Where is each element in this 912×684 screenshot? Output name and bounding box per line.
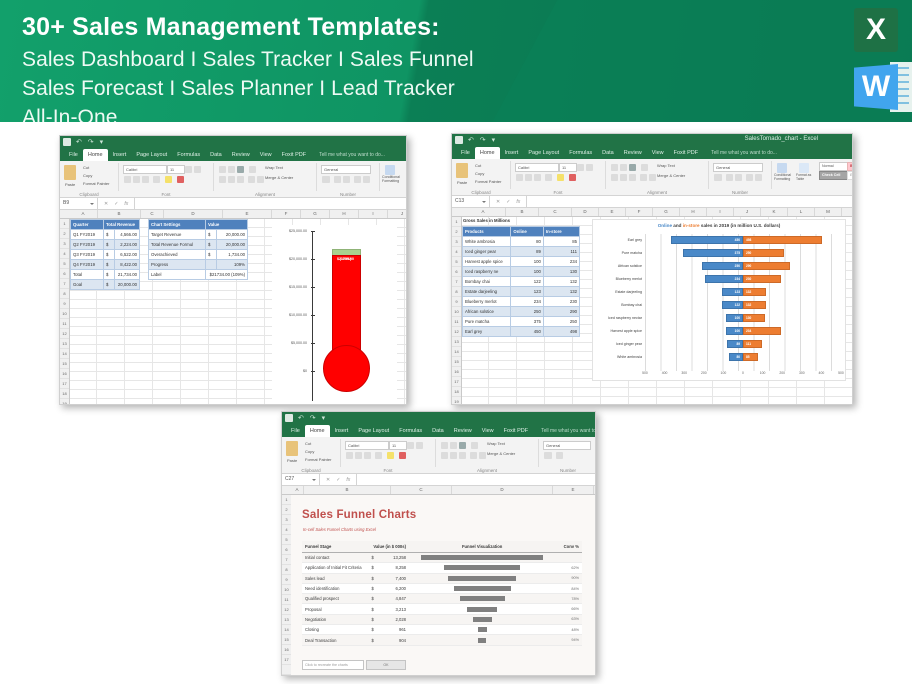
ribbon-group-clipboard[interactable]: Paste Cut Copy Format Painter Clipboard bbox=[63, 162, 115, 196]
row-17[interactable]: 17 bbox=[282, 655, 291, 665]
ribbon[interactable]: Paste Cut Copy Format Painter Clipboard … bbox=[282, 437, 595, 474]
column-headers[interactable]: A B C D E F G H I J bbox=[60, 210, 406, 219]
ribbon-group-alignment[interactable]: Wrap Text Merge & Center Alignment bbox=[217, 162, 313, 196]
row-7[interactable]: 7 bbox=[60, 279, 69, 289]
save-icon[interactable] bbox=[285, 414, 293, 422]
col-N[interactable]: N bbox=[842, 208, 853, 216]
bar-instore[interactable]: 290 bbox=[743, 262, 790, 270]
increase-decimal-icon[interactable] bbox=[354, 176, 361, 183]
recreate-charts-input[interactable]: Click to recreate the charts bbox=[302, 660, 364, 670]
tab-file[interactable]: File bbox=[286, 425, 305, 437]
tab-data[interactable]: Data bbox=[427, 425, 449, 437]
table-row[interactable]: Total Revenue Formul $ 20,000.00 bbox=[149, 240, 248, 250]
cell-stage[interactable]: Negotiation bbox=[302, 614, 368, 624]
gross-sales-table[interactable]: Products Online In-store White ambrosia … bbox=[462, 226, 580, 337]
align-middle-icon[interactable] bbox=[228, 166, 235, 173]
row-1[interactable]: 1 bbox=[60, 219, 69, 229]
cell-product[interactable]: Earl grey bbox=[463, 327, 511, 337]
bar-online[interactable]: 89 bbox=[727, 340, 743, 348]
insert-function-icon[interactable]: fx bbox=[346, 477, 350, 483]
row-7[interactable]: 7 bbox=[282, 555, 291, 565]
align-center-icon[interactable] bbox=[228, 176, 235, 183]
orientation-icon[interactable] bbox=[249, 166, 256, 173]
font-name-input[interactable]: Calibri bbox=[345, 441, 389, 450]
percent-icon[interactable] bbox=[556, 452, 563, 459]
font-color-icon[interactable] bbox=[177, 176, 184, 183]
ribbon-tabs[interactable]: File Home Insert Page Layout Formulas Da… bbox=[282, 425, 595, 437]
bold-icon[interactable] bbox=[516, 174, 523, 181]
col-D[interactable]: D bbox=[164, 210, 223, 218]
worksheet-grid[interactable]: 1 2 3 4 5 6 7 8 9 10 11 12 13 14 15 16 1… bbox=[452, 217, 852, 405]
format-as-table-icon[interactable] bbox=[799, 163, 809, 173]
cell-instore[interactable]: 250 bbox=[543, 317, 579, 327]
copy-label[interactable]: Copy bbox=[83, 173, 92, 178]
column-headers[interactable]: A B C D E bbox=[282, 486, 595, 495]
italic-icon[interactable] bbox=[525, 174, 532, 181]
col-L[interactable]: L bbox=[788, 208, 815, 216]
col-I[interactable]: I bbox=[707, 208, 734, 216]
style-bad[interactable]: Bad bbox=[847, 162, 853, 171]
orientation-icon[interactable] bbox=[471, 442, 478, 449]
accept-formula-icon[interactable]: ✓ bbox=[336, 477, 340, 483]
row-15[interactable]: 15 bbox=[60, 359, 69, 369]
bar-instore[interactable]: 498 bbox=[743, 236, 822, 244]
insert-function-icon[interactable]: fx bbox=[516, 199, 520, 205]
row-12[interactable]: 12 bbox=[452, 327, 461, 337]
col-A[interactable]: A bbox=[69, 210, 98, 218]
tab-formulas[interactable]: Formulas bbox=[172, 149, 205, 161]
bar-online[interactable]: 234 bbox=[705, 275, 743, 283]
cell-value[interactable]: $21734.00 (109%) bbox=[206, 270, 248, 280]
tab-formulas[interactable]: Formulas bbox=[564, 147, 597, 159]
row-5[interactable]: 5 bbox=[282, 535, 291, 545]
col-D[interactable]: D bbox=[452, 486, 553, 494]
align-middle-icon[interactable] bbox=[450, 442, 457, 449]
cell-setting[interactable]: Overachieved bbox=[149, 250, 206, 260]
cut-label[interactable]: Cut bbox=[305, 441, 311, 446]
tab-insert[interactable]: Insert bbox=[500, 147, 524, 159]
ribbon-group-font[interactable]: Calibri 11 Font bbox=[514, 160, 602, 194]
tab-page-layout[interactable]: Page Layout bbox=[353, 425, 394, 437]
funnel-row[interactable]: Proposal $3,213 66% bbox=[302, 604, 582, 614]
conditional-formatting-icon[interactable] bbox=[385, 165, 395, 175]
recreate-charts-control[interactable]: Click to recreate the charts OK bbox=[302, 660, 406, 670]
ribbon-group-alignment[interactable]: Wrap Text Merge & Center Alignment bbox=[439, 438, 535, 472]
ribbon-group-number[interactable]: General Number bbox=[712, 160, 768, 194]
align-bottom-icon[interactable] bbox=[237, 166, 244, 173]
col-K[interactable]: K bbox=[761, 208, 788, 216]
cell-value[interactable]: 20,000.00 bbox=[217, 240, 248, 250]
cell-product[interactable]: White ambrosia bbox=[463, 237, 511, 247]
fill-color-icon[interactable] bbox=[557, 174, 564, 181]
tab-view[interactable]: View bbox=[647, 147, 669, 159]
row-10[interactable]: 10 bbox=[452, 307, 461, 317]
row-14[interactable]: 14 bbox=[60, 349, 69, 359]
cell-instore[interactable]: 234 bbox=[543, 257, 579, 267]
chart-bar-row[interactable]: Iced ginger pear 89 111 bbox=[645, 340, 841, 348]
col-B[interactable]: B bbox=[506, 208, 539, 216]
number-format-select[interactable]: General bbox=[321, 165, 371, 174]
align-center-icon[interactable] bbox=[620, 174, 627, 181]
align-bottom-icon[interactable] bbox=[629, 164, 636, 171]
align-left-icon[interactable] bbox=[611, 174, 618, 181]
chart-bar-row[interactable]: Iced raspberry nectar 100 130 bbox=[645, 314, 841, 322]
chart-bar-row[interactable]: Pure matcha 375 250 bbox=[645, 249, 841, 257]
cell-quarter[interactable]: Goal bbox=[71, 280, 104, 290]
cut-label[interactable]: Cut bbox=[475, 163, 481, 168]
row-10[interactable]: 10 bbox=[282, 585, 291, 595]
funnel-row[interactable]: Qualified prospect $4,847 78% bbox=[302, 594, 582, 604]
table-row[interactable]: Iced raspberry ne 100 130 bbox=[463, 267, 580, 277]
cut-label[interactable]: Cut bbox=[83, 165, 89, 170]
cell-instore[interactable]: 111 bbox=[543, 247, 579, 257]
format-painter-label[interactable]: Format Painter bbox=[475, 179, 501, 184]
row-17[interactable]: 17 bbox=[60, 379, 69, 389]
font-size-input[interactable]: 11 bbox=[559, 163, 577, 172]
cell-value[interactable]: 21,734.00 bbox=[115, 270, 140, 280]
cell-setting[interactable]: Progress bbox=[149, 260, 206, 270]
formula-bar[interactable]: B9 ✕ ✓ fx bbox=[60, 198, 406, 210]
cell-instore[interactable]: 85 bbox=[543, 237, 579, 247]
align-left-icon[interactable] bbox=[441, 452, 448, 459]
ribbon-tabs[interactable]: File Home Insert Page Layout Formulas Da… bbox=[60, 149, 406, 161]
tab-foxit-pdf[interactable]: Foxit PDF bbox=[277, 149, 311, 161]
align-right-icon[interactable] bbox=[459, 452, 466, 459]
formula-bar[interactable]: C13 ✕ ✓ fx bbox=[452, 196, 852, 208]
table-row[interactable]: Bombay chai 122 132 bbox=[463, 277, 580, 287]
cell-online[interactable]: 100 bbox=[511, 267, 544, 277]
cell-online[interactable]: 250 bbox=[511, 307, 544, 317]
paste-label[interactable]: Paste bbox=[287, 458, 297, 463]
align-middle-icon[interactable] bbox=[620, 164, 627, 171]
decrease-font-icon[interactable] bbox=[416, 442, 423, 449]
tab-review[interactable]: Review bbox=[619, 147, 647, 159]
col-E[interactable]: E bbox=[599, 208, 626, 216]
cell-stage[interactable]: Need identification bbox=[302, 583, 368, 593]
ribbon[interactable]: Paste Cut Copy Format Painter Clipboard … bbox=[60, 161, 406, 198]
row-6[interactable]: 6 bbox=[452, 267, 461, 277]
cell-value[interactable]: 2,224.00 bbox=[115, 240, 140, 250]
formula-buttons[interactable]: ✕ ✓ fx bbox=[320, 474, 357, 485]
wrap-text-label[interactable]: Wrap Text bbox=[487, 441, 505, 446]
cell-value[interactable]: $3,213 bbox=[368, 604, 409, 614]
copy-label[interactable]: Copy bbox=[475, 171, 484, 176]
chart-bar-row[interactable]: African solstice 250 290 bbox=[645, 262, 841, 270]
cell-product[interactable]: Pure matcha bbox=[463, 317, 511, 327]
row-1[interactable]: 1 bbox=[452, 217, 461, 227]
row-13[interactable]: 13 bbox=[60, 339, 69, 349]
col-I[interactable]: I bbox=[359, 210, 388, 218]
row-2[interactable]: 2 bbox=[452, 227, 461, 237]
tab-data[interactable]: Data bbox=[597, 147, 619, 159]
cell-instore[interactable]: 130 bbox=[543, 267, 579, 277]
conditional-formatting-label[interactable]: Conditional Formatting bbox=[382, 176, 404, 184]
funnel-row[interactable]: Initial contact $13,258 bbox=[302, 553, 582, 563]
ribbon-group-clipboard[interactable]: Paste Cut Copy Format Painter Clipboard bbox=[455, 160, 507, 194]
row-16[interactable]: 16 bbox=[282, 645, 291, 655]
col-E[interactable]: E bbox=[223, 210, 272, 218]
ribbon-group-font[interactable]: Calibri 11 Font bbox=[344, 438, 432, 472]
bar-instore[interactable]: 111 bbox=[743, 340, 762, 348]
tell-me-search[interactable]: Tell me what you want to do... bbox=[319, 152, 385, 158]
tab-review[interactable]: Review bbox=[449, 425, 477, 437]
ribbon-group-styles[interactable]: Conditional Formatting bbox=[382, 162, 406, 196]
cell-online[interactable]: 89 bbox=[511, 247, 544, 257]
paste-icon[interactable] bbox=[64, 165, 76, 180]
style-normal[interactable]: Normal bbox=[819, 162, 849, 171]
cell-product[interactable]: African solstice bbox=[463, 307, 511, 317]
align-top-icon[interactable] bbox=[441, 442, 448, 449]
cancel-formula-icon[interactable]: ✕ bbox=[496, 199, 500, 205]
align-right-icon[interactable] bbox=[629, 174, 636, 181]
worksheet-grid[interactable]: 1 2 3 4 5 6 7 8 9 10 11 12 13 14 15 16 1… bbox=[282, 495, 595, 676]
increase-font-icon[interactable] bbox=[577, 164, 584, 171]
funnel-row[interactable]: Negotiation $2,028 63% bbox=[302, 614, 582, 624]
tab-foxit-pdf[interactable]: Foxit PDF bbox=[499, 425, 533, 437]
align-right-icon[interactable] bbox=[237, 176, 244, 183]
bar-instore[interactable]: 85 bbox=[743, 353, 758, 361]
row-9[interactable]: 9 bbox=[452, 297, 461, 307]
ribbon-group-alignment[interactable]: Wrap Text Merge & Center Alignment bbox=[609, 160, 705, 194]
tab-insert[interactable]: Insert bbox=[330, 425, 354, 437]
merge-center-label[interactable]: Merge & Center bbox=[487, 451, 515, 456]
cell-online[interactable]: 123 bbox=[511, 287, 544, 297]
tab-page-layout[interactable]: Page Layout bbox=[131, 149, 172, 161]
wrap-text-label[interactable]: Wrap Text bbox=[657, 163, 675, 168]
percent-icon[interactable] bbox=[726, 174, 733, 181]
bar-online[interactable]: 123 bbox=[722, 288, 743, 296]
revenue-table[interactable]: Quarter Total Revenue Q1 FY2019 $ 4,566.… bbox=[70, 219, 140, 290]
paste-label[interactable]: Paste bbox=[65, 182, 75, 187]
cell-stage[interactable]: Application of Initial Fit Criteria bbox=[302, 563, 368, 573]
cell-value[interactable]: 4,566.00 bbox=[115, 230, 140, 240]
ribbon-tabs[interactable]: File Home Insert Page Layout Formulas Da… bbox=[452, 147, 852, 159]
row-9[interactable]: 9 bbox=[60, 299, 69, 309]
funnel-row[interactable]: Application of Initial Fit Criteria $8,2… bbox=[302, 563, 582, 573]
table-row[interactable]: Label $21734.00 (109%) bbox=[149, 270, 248, 280]
bar-instore[interactable]: 132 bbox=[743, 288, 766, 296]
align-bottom-icon[interactable] bbox=[459, 442, 466, 449]
cell-value[interactable]: $2,028 bbox=[368, 614, 409, 624]
paste-icon[interactable] bbox=[456, 163, 468, 178]
save-icon[interactable] bbox=[455, 136, 463, 144]
increase-indent-icon[interactable] bbox=[479, 452, 486, 459]
cell-value[interactable]: $4,847 bbox=[368, 594, 409, 604]
cell-online[interactable]: 80 bbox=[511, 237, 544, 247]
row-3[interactable]: 3 bbox=[452, 237, 461, 247]
tell-me-search[interactable]: Tell me what you want to do... bbox=[711, 150, 777, 156]
col-C[interactable]: C bbox=[141, 210, 164, 218]
row-19[interactable] bbox=[282, 675, 291, 676]
row-5[interactable]: 5 bbox=[452, 257, 461, 267]
accept-formula-icon[interactable]: ✓ bbox=[114, 201, 118, 207]
number-format-select[interactable]: General bbox=[543, 441, 591, 450]
tab-data[interactable]: Data bbox=[205, 149, 227, 161]
tab-page-layout[interactable]: Page Layout bbox=[523, 147, 564, 159]
decrease-decimal-icon[interactable] bbox=[363, 176, 370, 183]
col-F[interactable]: F bbox=[626, 208, 653, 216]
merge-center-label[interactable]: Merge & Center bbox=[265, 175, 293, 180]
align-left-icon[interactable] bbox=[219, 176, 226, 183]
bar-online[interactable]: 450 bbox=[671, 236, 743, 244]
cell-quarter[interactable]: Q4 FY2019 bbox=[71, 260, 104, 270]
col-G[interactable]: G bbox=[301, 210, 330, 218]
bold-icon[interactable] bbox=[346, 452, 353, 459]
thermometer-workbook-window[interactable]: ↶ ↷ ▾ File Home Insert Page Layout Formu… bbox=[59, 135, 407, 405]
row-headers[interactable]: 1 2 3 4 5 6 7 8 9 10 11 12 13 14 15 16 1… bbox=[452, 217, 462, 405]
cell-instore[interactable]: 230 bbox=[543, 297, 579, 307]
col-H[interactable]: H bbox=[680, 208, 707, 216]
merge-center-label[interactable]: Merge & Center bbox=[657, 173, 685, 178]
row-12[interactable]: 12 bbox=[60, 329, 69, 339]
thermometer-chart[interactable]: $25,000.00 $20,000.00 $15,000.00 $10,000… bbox=[272, 225, 397, 405]
cell-value[interactable]: $961 bbox=[368, 625, 409, 635]
currency-icon[interactable] bbox=[544, 452, 552, 459]
row-1[interactable]: 1 bbox=[282, 495, 291, 505]
row-12[interactable]: 12 bbox=[282, 605, 291, 615]
tell-me-search[interactable]: Tell me what you want to do... bbox=[541, 428, 596, 434]
number-format-select[interactable]: General bbox=[713, 163, 763, 172]
cell-stage[interactable]: Sales lead bbox=[302, 573, 368, 583]
cell-setting[interactable]: Label bbox=[149, 270, 206, 280]
cell-quarter[interactable]: Q3 FY2019 bbox=[71, 250, 104, 260]
col-E[interactable]: E bbox=[553, 486, 594, 494]
font-name-input[interactable]: Calibri bbox=[515, 163, 559, 172]
underline-icon[interactable] bbox=[364, 452, 371, 459]
bar-instore[interactable]: 132 bbox=[743, 301, 766, 309]
orientation-icon[interactable] bbox=[641, 164, 648, 171]
row-8[interactable]: 8 bbox=[60, 289, 69, 299]
copy-label[interactable]: Copy bbox=[305, 449, 314, 454]
style-check-cell[interactable]: Check Cell bbox=[819, 171, 849, 180]
table-row[interactable]: Target Revenue $ 20,000.00 bbox=[149, 230, 248, 240]
tab-file[interactable]: File bbox=[64, 149, 83, 161]
table-row[interactable]: Earl grey 450 498 bbox=[463, 327, 580, 337]
cell-value[interactable]: $8,258 bbox=[368, 563, 409, 573]
cell-instore[interactable]: 290 bbox=[543, 307, 579, 317]
cell-online[interactable]: 122 bbox=[511, 277, 544, 287]
row-headers[interactable]: 1 2 3 4 5 6 7 8 9 10 11 12 13 14 15 16 1… bbox=[60, 219, 70, 405]
cell-online[interactable]: 100 bbox=[511, 257, 544, 267]
cell-instore[interactable]: 498 bbox=[543, 327, 579, 337]
cell-online[interactable]: 450 bbox=[511, 327, 544, 337]
cell-product[interactable]: Blueberry merlot bbox=[463, 297, 511, 307]
format-painter-label[interactable]: Format Painter bbox=[305, 457, 331, 462]
cell-instore[interactable]: 132 bbox=[543, 277, 579, 287]
cell-product[interactable]: Harvest apple spice bbox=[463, 257, 511, 267]
bar-online[interactable]: 375 bbox=[683, 249, 743, 257]
quick-access-toolbar[interactable]: ↶ ↷ ▾ bbox=[298, 414, 327, 422]
col-B[interactable]: B bbox=[304, 486, 391, 494]
insert-function-icon[interactable]: fx bbox=[124, 201, 128, 207]
align-center-icon[interactable] bbox=[450, 452, 457, 459]
tornado-workbook-window[interactable]: ↶ ↷ ▾ SalesTornado_chart - Excel File Ho… bbox=[451, 133, 853, 405]
ribbon-group-clipboard[interactable]: Paste Cut Copy Format Painter Clipboard bbox=[285, 438, 337, 472]
fill-color-icon[interactable] bbox=[165, 176, 172, 183]
cell-setting[interactable]: Target Revenue bbox=[149, 230, 206, 240]
currency-icon[interactable] bbox=[322, 176, 330, 183]
name-box[interactable]: B9 bbox=[60, 198, 98, 209]
paste-icon[interactable] bbox=[286, 441, 298, 456]
row-6[interactable]: 6 bbox=[282, 545, 291, 555]
tab-foxit-pdf[interactable]: Foxit PDF bbox=[669, 147, 703, 159]
ribbon-group-styles[interactable]: Conditional Formatting Format as Table N… bbox=[774, 160, 850, 194]
row-11[interactable]: 11 bbox=[452, 317, 461, 327]
cell-product[interactable]: Bombay chai bbox=[463, 277, 511, 287]
row-9[interactable]: 9 bbox=[282, 575, 291, 585]
cell-value[interactable]: 109% bbox=[217, 260, 248, 270]
funnel-workbook-window[interactable]: ↶ ↷ ▾ File Home Insert Page Layout Formu… bbox=[281, 411, 596, 676]
row-14[interactable]: 14 bbox=[282, 625, 291, 635]
cell-value[interactable]: $6,200 bbox=[368, 583, 409, 593]
chart-bar-row[interactable]: Harvest apple spice 100 234 bbox=[645, 327, 841, 335]
col-J[interactable]: J bbox=[388, 210, 407, 218]
col-M[interactable]: M bbox=[815, 208, 842, 216]
decrease-font-icon[interactable] bbox=[194, 166, 201, 173]
bar-instore[interactable]: 130 bbox=[743, 314, 765, 322]
format-as-table-label[interactable]: Format as Table bbox=[796, 174, 816, 181]
funnel-row[interactable]: Sales lead $7,400 90% bbox=[302, 573, 582, 583]
tornado-chart[interactable]: Online and in-store sales in 2019 (in mi… bbox=[592, 219, 846, 381]
ribbon[interactable]: Paste Cut Copy Format Painter Clipboard … bbox=[452, 159, 852, 196]
italic-icon[interactable] bbox=[355, 452, 362, 459]
chart-bar-row[interactable]: Earl grey 450 498 bbox=[645, 236, 841, 244]
quick-access-toolbar[interactable]: ↶ ↷ ▾ bbox=[468, 136, 497, 144]
align-top-icon[interactable] bbox=[219, 166, 226, 173]
cell-stage[interactable]: Deal Transaction bbox=[302, 635, 368, 645]
col-C[interactable]: C bbox=[391, 486, 452, 494]
row-17[interactable]: 17 bbox=[452, 377, 461, 387]
recreate-charts-ok-button[interactable]: OK bbox=[366, 660, 406, 670]
table-row[interactable]: Goal $ 20,000.00 bbox=[71, 280, 140, 290]
row-13[interactable]: 13 bbox=[282, 615, 291, 625]
chart-settings-table[interactable]: Chart Settings Value Target Revenue $ 20… bbox=[148, 219, 248, 280]
cell-stage[interactable]: Proposal bbox=[302, 604, 368, 614]
col-G[interactable]: G bbox=[653, 208, 680, 216]
conditional-formatting-icon[interactable] bbox=[777, 163, 787, 173]
borders-icon[interactable] bbox=[153, 176, 160, 183]
bar-online[interactable]: 100 bbox=[726, 314, 744, 322]
decrease-font-icon[interactable] bbox=[586, 164, 593, 171]
cell-value[interactable]: 6,522.00 bbox=[115, 250, 140, 260]
cell-value[interactable]: $904 bbox=[368, 635, 409, 645]
borders-icon[interactable] bbox=[375, 452, 382, 459]
cell-quarter[interactable]: Q1 FY2019 bbox=[71, 230, 104, 240]
cell-product[interactable]: Iced ginger pear bbox=[463, 247, 511, 257]
table-row[interactable]: Pure matcha 375 250 bbox=[463, 317, 580, 327]
row-4[interactable]: 4 bbox=[452, 247, 461, 257]
increase-font-icon[interactable] bbox=[185, 166, 192, 173]
font-size-input[interactable]: 11 bbox=[389, 441, 407, 450]
cell-value[interactable]: 20,000.00 bbox=[115, 280, 140, 290]
wrap-text-label[interactable]: Wrap Text bbox=[265, 165, 283, 170]
bold-icon[interactable] bbox=[124, 176, 131, 183]
col-B[interactable]: B bbox=[98, 210, 141, 218]
row-3[interactable]: 3 bbox=[282, 515, 291, 525]
table-row[interactable]: Q3 FY2019 $ 6,522.00 bbox=[71, 250, 140, 260]
table-row[interactable]: White ambrosia 80 85 bbox=[463, 237, 580, 247]
row-2[interactable]: 2 bbox=[282, 505, 291, 515]
worksheet-grid[interactable]: 1 2 3 4 5 6 7 8 9 10 11 12 13 14 15 16 1… bbox=[60, 219, 406, 405]
increase-decimal-icon[interactable] bbox=[746, 174, 753, 181]
chart-bar-row[interactable]: Blueberry merlot 234 230 bbox=[645, 275, 841, 283]
row-18[interactable] bbox=[282, 665, 291, 675]
row-18[interactable]: 18 bbox=[452, 387, 461, 397]
row-5[interactable]: 5 bbox=[60, 259, 69, 269]
tab-view[interactable]: View bbox=[477, 425, 499, 437]
bar-online[interactable]: 100 bbox=[726, 327, 744, 335]
accept-formula-icon[interactable]: ✓ bbox=[506, 199, 510, 205]
